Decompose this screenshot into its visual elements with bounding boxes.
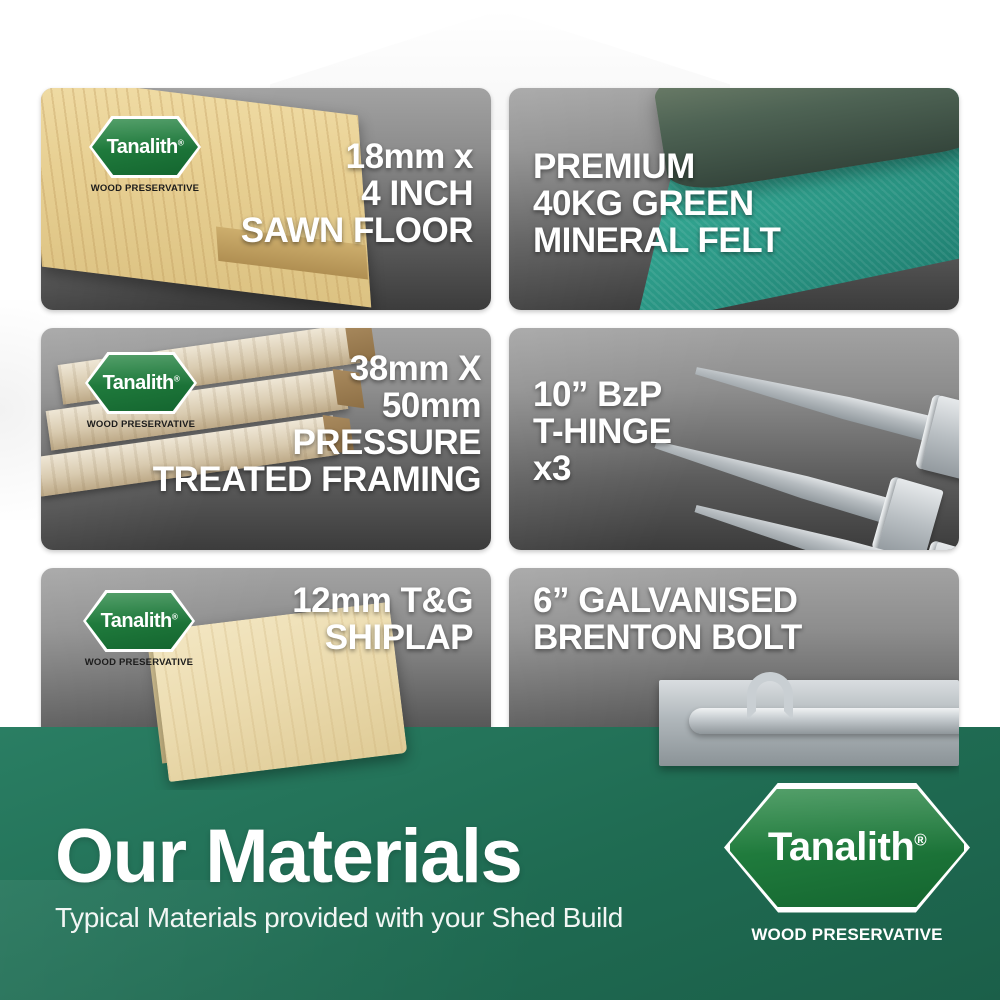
tanalith-logo-footer: Tanalith® WOOD PRESERVATIVE [724, 783, 970, 945]
page-title: Our Materials [55, 821, 623, 893]
tanalith-wordmark: Tanalith [768, 825, 914, 869]
tanalith-tagline: WOOD PRESERVATIVE [91, 183, 199, 194]
footer-content: Our Materials Typical Materials provided… [0, 727, 1000, 1000]
material-card-mineral-felt[interactable]: PREMIUM 40KG GREEN MINERAL FELT [509, 88, 959, 310]
material-card-label: 6” GALVANISED BRENTON BOLT [533, 582, 802, 656]
tanalith-tagline: WOOD PRESERVATIVE [751, 925, 942, 945]
registered-mark-icon: ® [178, 137, 184, 147]
material-card-label: 12mm T&G SHIPLAP [292, 582, 473, 656]
footer-text-block: Our Materials Typical Materials provided… [55, 793, 623, 933]
material-card-t-hinge[interactable]: 10” BzP T-HINGE x3 [509, 328, 959, 550]
material-card-label: 18mm x 4 INCH SAWN FLOOR [241, 138, 473, 249]
tanalith-badge: Tanalith® WOOD PRESERVATIVE [83, 590, 195, 668]
page-subtitle: Typical Materials provided with your She… [55, 902, 623, 934]
tanalith-tagline: WOOD PRESERVATIVE [85, 657, 193, 668]
infographic-page: Tanalith® WOOD PRESERVATIVE 18mm x 4 INC… [0, 0, 1000, 1000]
materials-grid: Tanalith® WOOD PRESERVATIVE 18mm x 4 INC… [41, 88, 959, 790]
tanalith-wordmark: Tanalith [101, 610, 172, 632]
tanalith-badge: Tanalith® WOOD PRESERVATIVE [89, 116, 201, 194]
material-card-sawn-floor[interactable]: Tanalith® WOOD PRESERVATIVE 18mm x 4 INC… [41, 88, 491, 310]
material-card-pressure-treated-framing[interactable]: Tanalith® WOOD PRESERVATIVE 38mm X 50mm … [41, 328, 491, 550]
tanalith-wordmark: Tanalith [107, 136, 178, 158]
registered-mark-icon: ® [172, 611, 178, 621]
material-card-label: PREMIUM 40KG GREEN MINERAL FELT [533, 148, 780, 259]
registered-mark-icon: ® [914, 831, 926, 850]
material-card-label: 38mm X 50mm PRESSURE TREATED FRAMING [153, 350, 481, 498]
material-card-label: 10” BzP T-HINGE x3 [533, 376, 671, 487]
